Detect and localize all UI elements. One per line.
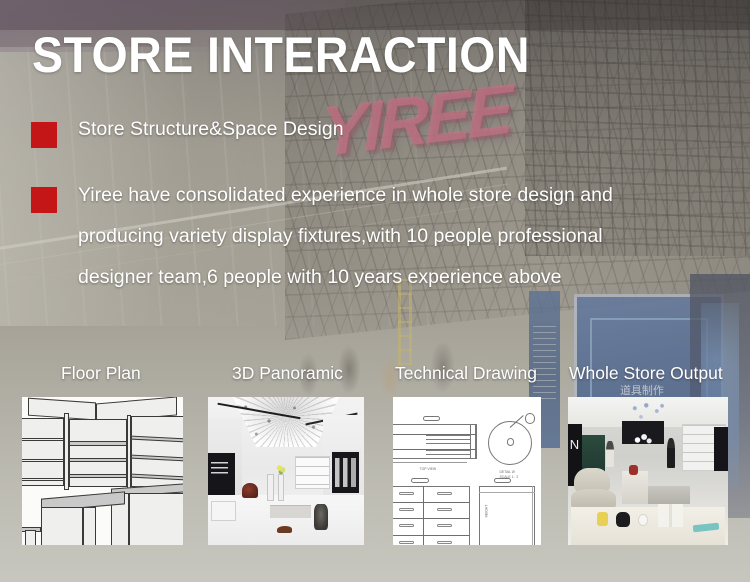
render-flower-arrangement <box>274 462 288 477</box>
store-interaction-banner: YIREE 道具制作 空间设计 STORE INTERACTION Store … <box>0 0 750 582</box>
photo-display-podium <box>622 471 648 504</box>
photo-red-product <box>629 465 639 475</box>
red-square-bullet-icon <box>31 122 57 148</box>
photo-counter <box>648 486 690 504</box>
red-square-bullet-icon <box>31 187 57 213</box>
render-shoe-product <box>277 526 293 533</box>
render-left-display-box <box>211 501 236 522</box>
photo-bag-display <box>658 504 684 528</box>
gallery-caption-technical-drawing: Technical Drawing <box>395 363 537 384</box>
gallery-thumbnail-floor-plan <box>22 397 183 545</box>
bullet-line-1: Yiree have consolidated experience in wh… <box>78 175 613 216</box>
gallery-caption-3d-panoramic: 3D Panoramic <box>232 363 343 384</box>
render-display-pod-2 <box>278 474 284 501</box>
banner-content: STORE INTERACTION Store Structure&Space … <box>0 0 750 582</box>
photo-white-product <box>638 514 648 526</box>
render-centre-shelving <box>295 456 329 489</box>
bullet-item-structure: Store Structure&Space Design <box>31 120 344 148</box>
bullet-item-experience: Yiree have consolidated experience in wh… <box>31 185 613 298</box>
gallery-captions: Floor Plan 3D Panoramic Technical Drawin… <box>0 363 750 389</box>
bullet-line-2: producing variety display fixtures,with … <box>78 216 613 257</box>
photo-black-product <box>616 512 630 527</box>
gallery-caption-floor-plan: Floor Plan <box>61 363 141 384</box>
gallery-thumbnails: TOP VIEW DETAIL Ø SCALE 1 : 2 <box>0 397 750 545</box>
cad-orthographic-fixture-drawing: TOP VIEW DETAIL Ø SCALE 1 : 2 <box>393 397 541 545</box>
render-centre-plinth <box>270 505 311 518</box>
3d-render-white-retail-interior <box>208 397 364 545</box>
gallery-caption-whole-store-output: Whole Store Output <box>569 363 723 384</box>
gallery-thumbnail-whole-store-output <box>568 397 728 545</box>
photo-shopper-left <box>606 441 613 466</box>
photo-yellow-product <box>597 512 608 525</box>
page-title: STORE INTERACTION <box>32 30 530 80</box>
gallery-thumbnail-technical-drawing: TOP VIEW DETAIL Ø SCALE 1 : 2 <box>393 397 541 545</box>
render-right-display-case <box>330 450 361 494</box>
photo-finished-store-interior <box>568 397 728 545</box>
photo-right-black-panel <box>714 427 728 471</box>
render-display-pod-1 <box>267 474 273 501</box>
bullet-line-3: designer team,6 people with 10 years exp… <box>78 257 613 298</box>
gallery-thumbnail-3d-panoramic <box>208 397 364 545</box>
photo-shopper-right <box>667 438 675 468</box>
bullet-item-structure-label: Store Structure&Space Design <box>78 120 344 140</box>
bullet-item-experience-text: Yiree have consolidated experience in wh… <box>78 175 613 298</box>
render-red-seat <box>242 483 258 498</box>
render-bag-product <box>314 504 328 531</box>
line-drawing-store-layout <box>22 397 183 545</box>
photo-pendant-lights <box>632 431 654 446</box>
